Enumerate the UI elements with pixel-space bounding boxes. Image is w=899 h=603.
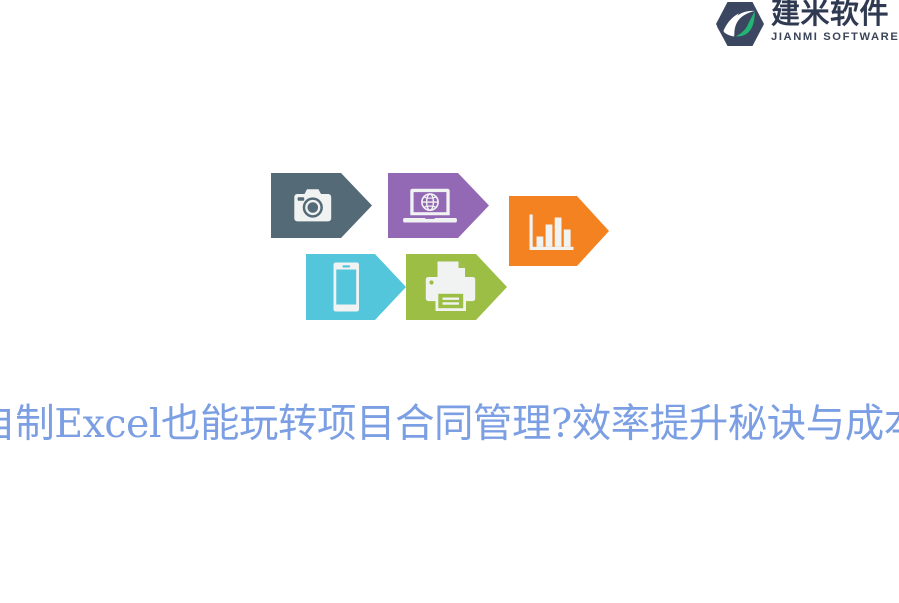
brand-name-en: JIANMI SOFTWARE bbox=[771, 31, 899, 44]
brand-name-cn: 建米软件 bbox=[771, 0, 899, 30]
chevron-printer bbox=[406, 254, 507, 320]
page-title-text: 自制Excel也能玩转项目合同管理?效率提升秘诀与成本 bbox=[0, 399, 899, 449]
camera-icon bbox=[294, 189, 331, 221]
chevron-bar-chart bbox=[509, 196, 609, 266]
chevron-infographic bbox=[0, 0, 899, 603]
smartphone-icon bbox=[334, 263, 360, 312]
brand-logo[interactable]: 建米软件 JIANMI SOFTWARE bbox=[713, 0, 899, 50]
chevron-smartphone bbox=[306, 254, 406, 320]
bar-chart-icon bbox=[530, 215, 574, 251]
page-title: 自制Excel也能玩转项目合同管理?效率提升秘诀与成本 bbox=[0, 396, 899, 452]
laptop-globe-icon bbox=[403, 189, 457, 223]
chevron-laptop-globe bbox=[388, 173, 489, 238]
brand-logo-text: 建米软件 JIANMI SOFTWARE bbox=[771, 0, 899, 44]
hexagon-leaf-logo-icon bbox=[713, 0, 767, 48]
page-canvas: 建米软件 JIANMI SOFTWARE bbox=[0, 0, 899, 603]
chevron-camera bbox=[271, 173, 372, 238]
printer-icon bbox=[426, 262, 475, 312]
